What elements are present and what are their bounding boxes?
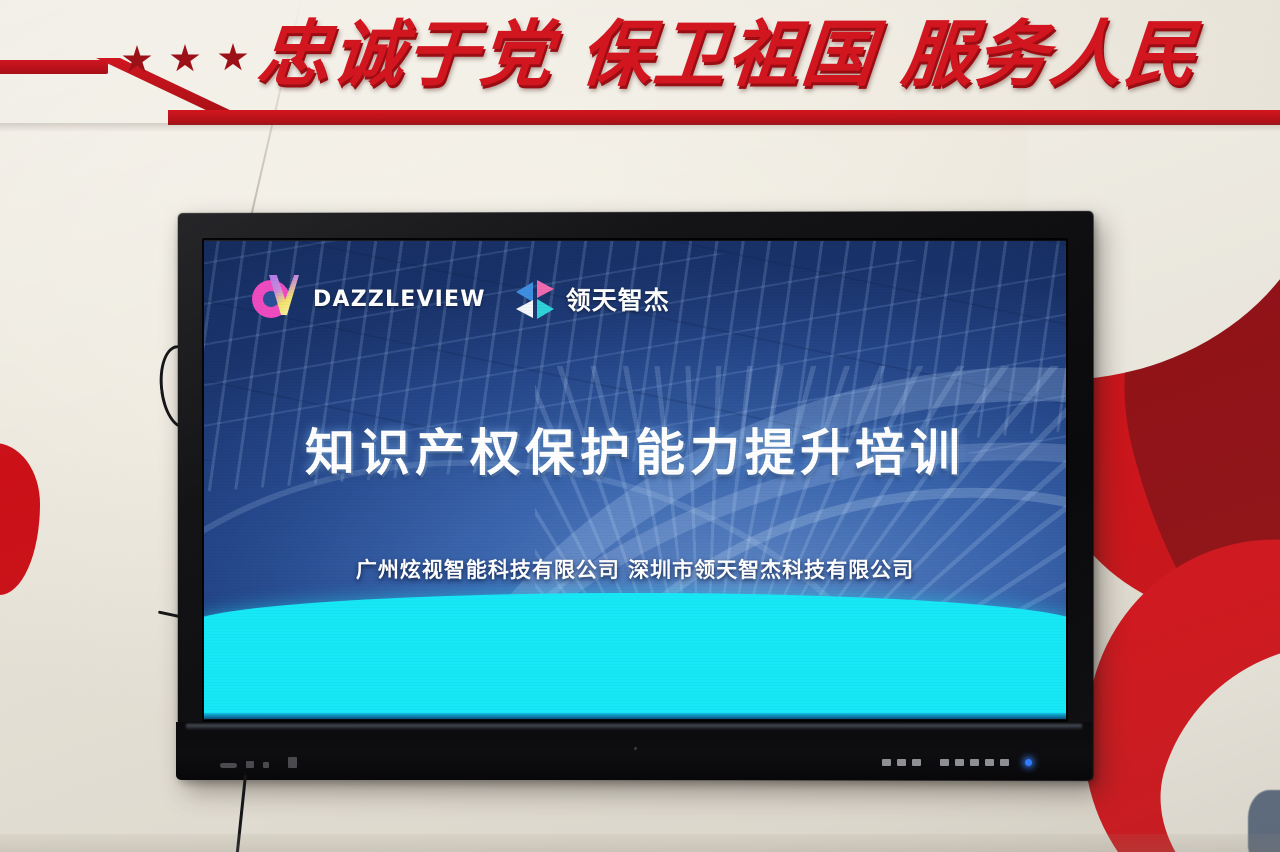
triangle-shape [516,300,533,318]
display-screen[interactable]: DAZZLEVIEW 领天智杰 知识产权保护能力提升培训 广州炫视智能科技有限公… [204,241,1066,719]
lingtian-zhijie-wordmark: 领天智杰 [566,281,670,317]
button-source[interactable] [897,759,906,766]
button-up[interactable] [912,759,921,766]
star-icon [218,43,248,73]
button-menu[interactable] [882,759,891,766]
port-usb[interactable] [220,763,237,768]
red-stripe-diagonal [96,58,247,118]
slide-title: 知识产权保护能力提升培训 [204,413,1066,485]
display-button-row[interactable] [882,759,1032,766]
button-down[interactable] [940,759,949,766]
power-led-indicator [1025,759,1032,766]
floor-shadow [0,834,1280,852]
lingtian-zhijie-logo: 领天智杰 [516,280,670,318]
photo-scene: 忠诚于党保卫祖国服务人民 [0,0,1280,852]
slide-company-line: 广州炫视智能科技有限公司 深圳市领天智杰科技有限公司 [204,554,1066,584]
interactive-display[interactable]: DAZZLEVIEW 领天智杰 知识产权保护能力提升培训 广州炫视智能科技有限公… [176,212,1092,780]
dazzleview-logo: DAZZLEVIEW [252,277,486,321]
slide-accent-band [204,593,1066,719]
wall-slogan: 忠诚于党保卫祖国服务人民 [255,18,1271,90]
button-volume-up[interactable] [970,759,979,766]
red-stripe-shadow [0,123,1280,132]
triangle-shape [537,299,554,319]
red-stripe-upper-segment [0,60,108,74]
bezel-highlight [186,724,1082,730]
slogan-part-3: 服务人民 [898,12,1201,96]
display-port-cluster[interactable] [220,757,297,768]
port-audio[interactable] [263,762,269,768]
star-icon [170,44,200,74]
port-power[interactable] [288,757,297,768]
button-volume-down[interactable] [955,759,964,766]
slogan-part-1: 忠诚于党 [254,12,557,96]
screen-bottom-glow [204,713,1066,719]
display-bottom-bezel [176,722,1092,780]
ir-receiver-icon [634,747,637,750]
button-home[interactable] [985,759,994,766]
wall-banner: 忠诚于党保卫祖国服务人民 [0,0,1280,150]
triangle-shape [537,280,554,298]
dazzleview-wordmark: DAZZLEVIEW [313,287,486,312]
slogan-part-2: 保卫祖国 [576,12,879,96]
triangle-shape [516,282,533,302]
cv-mark-icon [252,277,300,321]
button-back[interactable] [1000,759,1009,766]
pinwheel-icon [516,280,556,318]
slide-logo-row: DAZZLEVIEW 领天智杰 [252,277,670,321]
port-hdmi[interactable] [246,761,254,768]
